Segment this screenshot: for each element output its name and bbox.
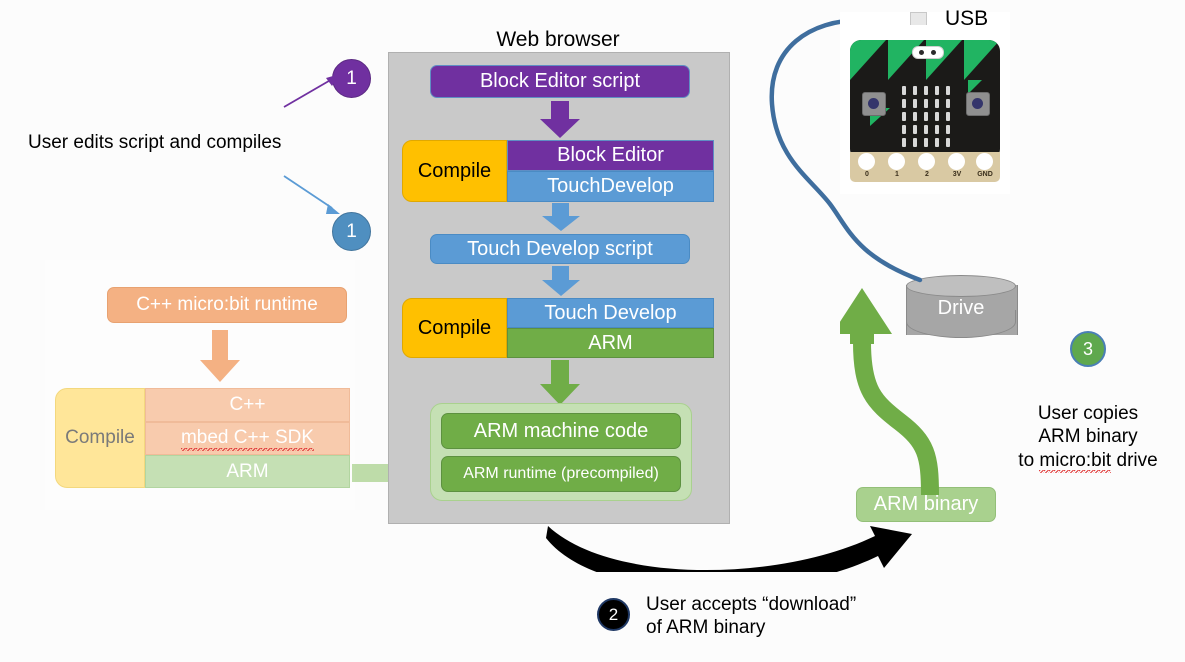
compile-touch-develop-label: Compile [418,317,491,340]
cpp-compile-box: Compile [55,388,145,488]
blue-down-arrow-icon-1 [540,203,582,232]
arm-runtime-box: ARM runtime (precompiled) [441,456,681,492]
cpp-mbed-sdk-row: mbed C++ SDK [145,422,350,455]
touchdevelop-row: TouchDevelop [507,171,714,202]
touchdevelop-label: TouchDevelop [547,175,674,198]
cpp-runtime-panel: C++ micro:bit runtime Compile C++ mbed C… [45,260,355,510]
step1-caption: User edits script and compiles [28,131,281,154]
purple-down-arrow-icon [538,101,582,139]
cpp-microbit-runtime-label: C++ micro:bit runtime [136,295,318,315]
step3-caption: User copies ARM binary to micro:bit driv… [1000,402,1176,472]
callout-3-number: 3 [1083,339,1093,360]
step2-caption: User accepts “download” of ARM binary [646,593,856,640]
microbit-pin-1-label: 1 [887,171,907,178]
step3-caption-line3-pre: to [1018,450,1039,471]
touch-develop-label: Touch Develop [544,302,676,325]
block-editor-script-box: Block Editor script [430,65,690,98]
blue-down-arrow-icon-2 [540,266,582,297]
arm-row-label: ARM [588,332,632,355]
block-editor-label: Block Editor [557,144,664,167]
microbit-button-b [966,92,990,116]
callout-3: 3 [1070,331,1106,367]
cpp-mbed-sdk-label: mbed C++ SDK [181,427,314,451]
browser-title: Web browser [388,28,728,52]
callout-1-blue-number: 1 [346,221,357,243]
microbit-pin-gnd-label: GND [975,171,995,178]
cpp-down-arrow-icon [198,330,242,384]
microbit-usb-port [912,46,944,59]
microbit-pin-2-label: 2 [917,171,937,178]
touch-develop-script-box: Touch Develop script [430,234,690,264]
callout-1-purple-arrow-icon [282,70,342,110]
arm-machine-code-label: ARM machine code [474,421,649,442]
compile-block-editor-label: Compile [418,160,491,183]
microbit-edge-connector: 0 1 2 3V GND [850,152,1000,182]
cpp-arm-label: ARM [226,461,268,483]
step3-caption-line3: to micro:bit drive [1000,449,1176,472]
block-editor-script-label: Block Editor script [480,71,640,92]
usb-label-text: USB [945,7,988,30]
arm-row: ARM [507,328,714,358]
cpp-lang-label: C++ [230,394,266,416]
step2-caption-line1: User accepts “download” [646,593,856,616]
microbit-board [850,40,1000,160]
callout-1-purple-number: 1 [346,68,357,90]
arm-machine-code-box: ARM machine code [441,413,681,449]
step2-caption-line2: of ARM binary [646,616,856,639]
microbit-pin-3v-label: 3V [947,171,967,178]
callout-2: 2 [597,598,630,631]
callout-2-number: 2 [609,605,618,625]
browser-title-text: Web browser [496,28,619,51]
compile-block-editor-box: Compile [402,140,507,202]
arm-runtime-label: ARM runtime (precompiled) [463,466,659,483]
microbit-button-a [862,92,886,116]
block-editor-row: Block Editor [507,140,714,171]
cpp-lang-row: C++ [145,388,350,422]
green-down-arrow-icon [538,360,582,406]
compile-touch-develop-box: Compile [402,298,507,358]
touch-develop-row: Touch Develop [507,298,714,328]
step3-caption-line2: ARM binary [1000,425,1176,448]
cpp-compile-label: Compile [65,427,135,449]
step3-caption-line1: User copies [1000,402,1176,425]
step3-caption-microbit-word: micro:bit [1039,450,1111,473]
diagram-canvas: C++ micro:bit runtime Compile C++ mbed C… [0,0,1185,662]
step1-caption-text: User edits script and compiles [28,132,281,153]
drive-label: Drive [906,297,1016,320]
usb-label: USB [945,6,988,32]
callout-1-blue-arrow-icon [282,172,344,218]
cpp-microbit-runtime-box: C++ micro:bit runtime [107,287,347,323]
microbit-usb-connector [910,12,927,25]
touch-develop-script-label: Touch Develop script [467,239,653,260]
cpp-arm-row: ARM [145,455,350,488]
microbit-pin-0-label: 0 [857,171,877,178]
microbit-device-image: 0 1 2 3V GND [840,12,1010,194]
step3-caption-line3-post: drive [1111,450,1157,471]
